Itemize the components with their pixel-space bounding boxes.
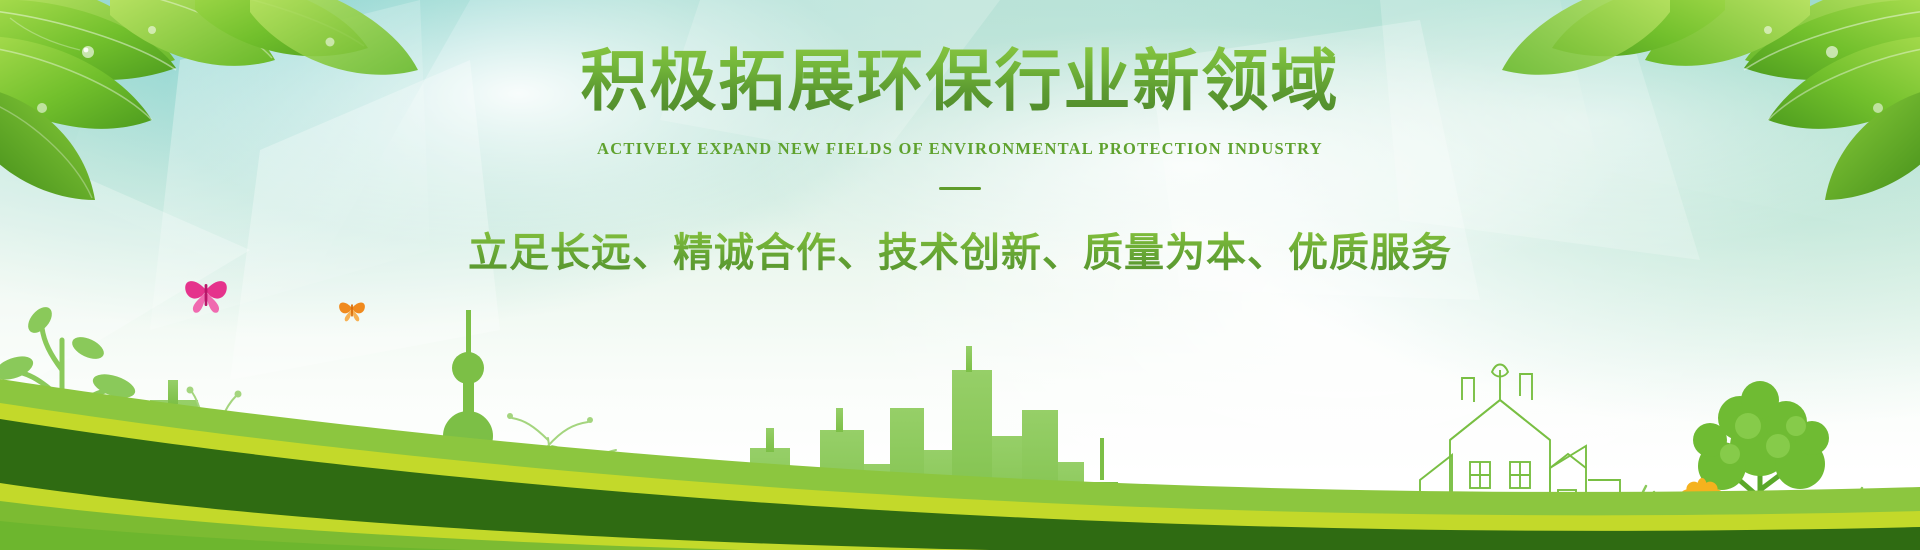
banner-text-block: 积极拓展环保行业新领域 ACTIVELY EXPAND NEW FIELDS O… (0, 46, 1920, 278)
butterfly-icon (185, 281, 227, 313)
divider (939, 187, 981, 190)
page-title: 积极拓展环保行业新领域 (0, 46, 1920, 117)
subtitle-english: ACTIVELY EXPAND NEW FIELDS OF ENVIRONMEN… (0, 139, 1920, 159)
slogan-text: 立足长远、精诚合作、技术创新、质量为本、优质服务 (0, 220, 1920, 278)
wave-ribbons (0, 315, 1920, 550)
eco-banner: 积极拓展环保行业新领域 ACTIVELY EXPAND NEW FIELDS O… (0, 0, 1920, 550)
